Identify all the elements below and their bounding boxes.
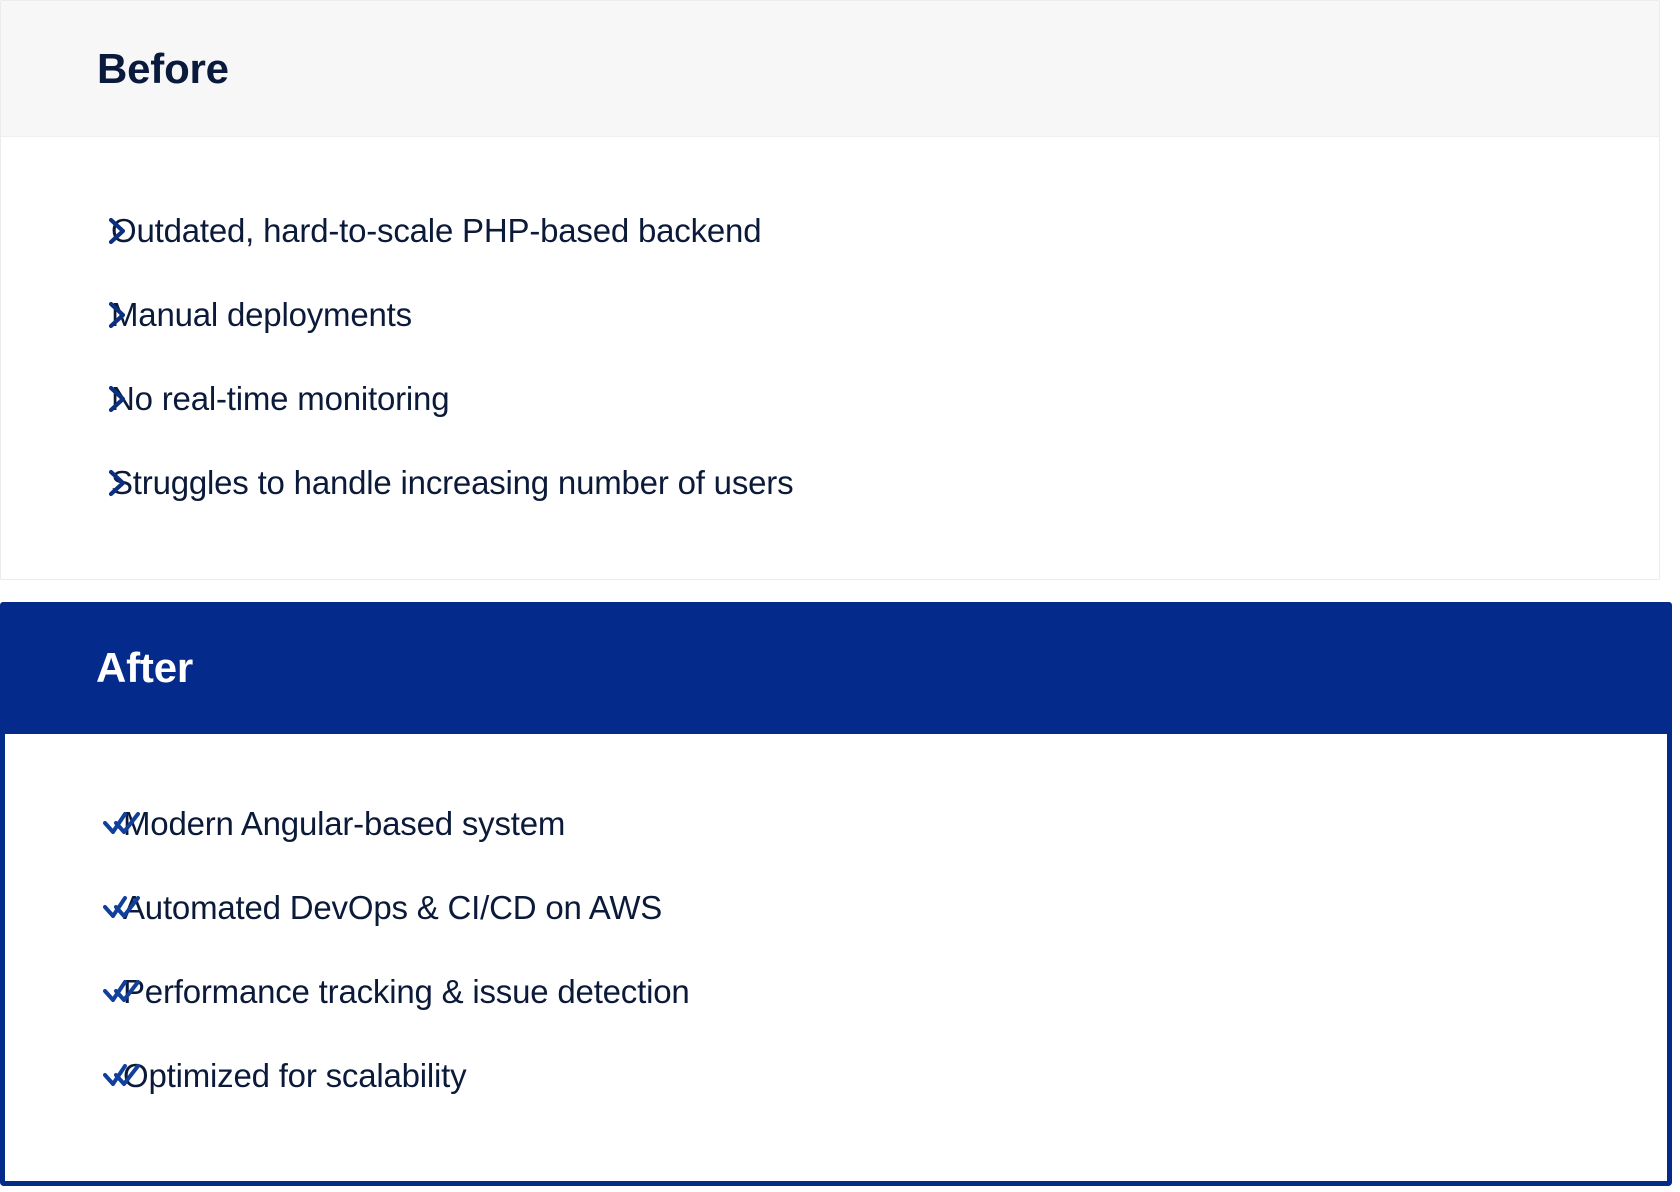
list-item: Automated DevOps & CI/CD on AWS [5, 866, 1667, 950]
after-card-body: Modern Angular-based system Automated De… [0, 734, 1672, 1186]
list-item-label: Optimized for scalability [123, 1056, 466, 1096]
list-item-label: Automated DevOps & CI/CD on AWS [123, 888, 662, 928]
double-check-icon [103, 811, 141, 837]
list-item-label: Modern Angular-based system [123, 804, 565, 844]
after-list: Modern Angular-based system Automated De… [5, 782, 1667, 1118]
list-item-label: Manual deployments [111, 295, 412, 335]
list-item-label: Struggles to handle increasing number of… [111, 463, 793, 503]
chevron-right-icon [105, 384, 131, 414]
list-item: Modern Angular-based system [5, 782, 1667, 866]
list-item: Optimized for scalability [5, 1034, 1667, 1118]
list-item: Outdated, hard-to-scale PHP-based backen… [1, 189, 1659, 273]
before-card-header: Before [1, 1, 1659, 137]
before-title: Before [97, 45, 229, 93]
list-item-label: Performance tracking & issue detection [123, 972, 690, 1012]
after-card: After Modern Angular-based system [0, 602, 1672, 1186]
after-title: After [96, 644, 193, 692]
double-check-icon [103, 895, 141, 921]
before-card-body: Outdated, hard-to-scale PHP-based backen… [1, 137, 1659, 525]
after-card-header: After [0, 602, 1672, 734]
list-item-label: No real-time monitoring [111, 379, 449, 419]
before-list: Outdated, hard-to-scale PHP-based backen… [1, 189, 1659, 525]
double-check-icon [103, 1063, 141, 1089]
before-card: Before Outdated, hard-to-scale PHP-based… [0, 0, 1660, 580]
list-item: Performance tracking & issue detection [5, 950, 1667, 1034]
chevron-right-icon [105, 216, 131, 246]
list-item: No real-time monitoring [1, 357, 1659, 441]
chevron-right-icon [105, 300, 131, 330]
list-item: Manual deployments [1, 273, 1659, 357]
list-item-label: Outdated, hard-to-scale PHP-based backen… [111, 211, 761, 251]
before-after-comparison: Before Outdated, hard-to-scale PHP-based… [0, 0, 1680, 1192]
list-item: Struggles to handle increasing number of… [1, 441, 1659, 525]
double-check-icon [103, 979, 141, 1005]
chevron-right-icon [105, 468, 131, 498]
